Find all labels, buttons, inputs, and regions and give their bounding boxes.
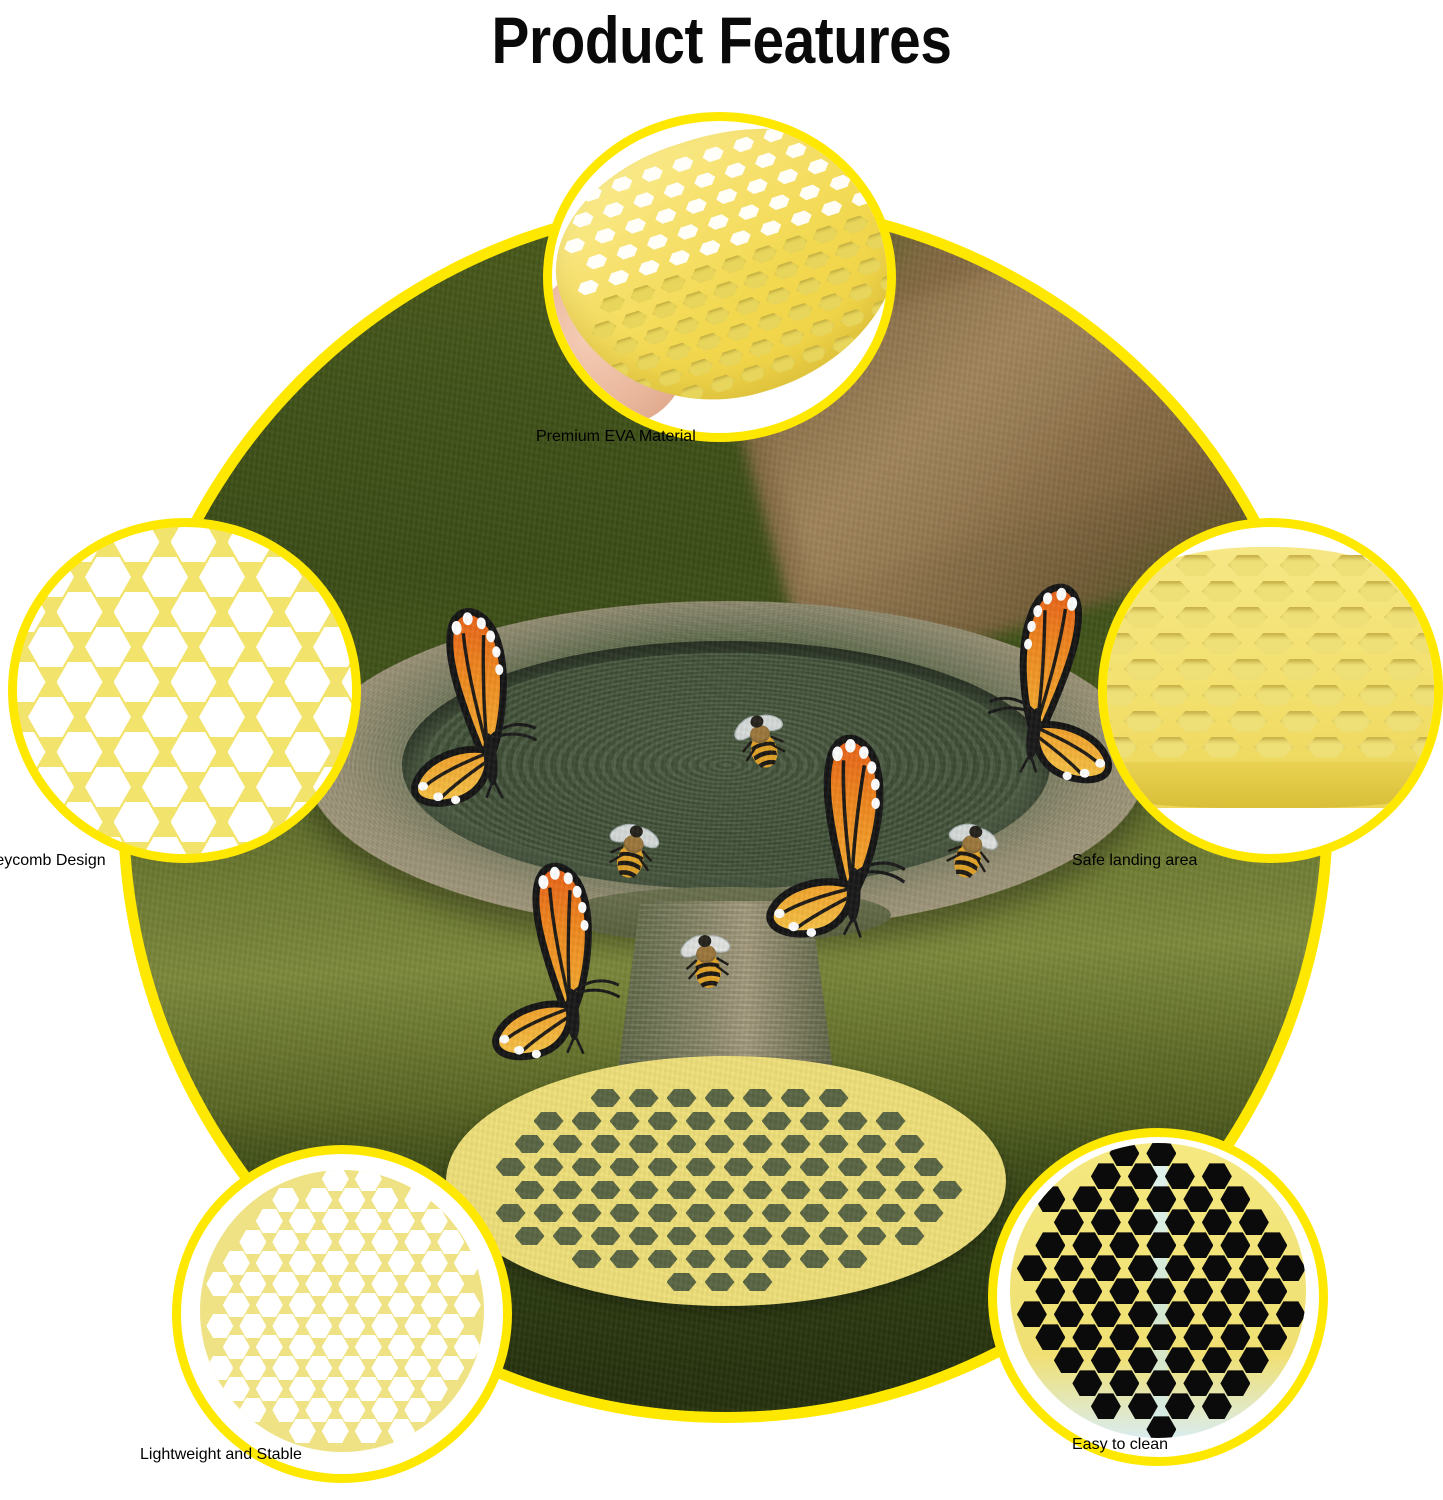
feature-label-premium-eva-material: Premium EVA Material	[536, 428, 696, 446]
page-title: Product Features	[101, 2, 1342, 78]
bird-bath-water	[424, 653, 1028, 877]
monarch-butterfly	[468, 853, 652, 1064]
callout-honeycomb-design	[8, 518, 361, 863]
honey-bee	[929, 811, 1011, 893]
callout-safe-landing-area	[1098, 518, 1443, 863]
honey-bee	[593, 813, 671, 891]
callout-image-safe-landing-area	[1098, 518, 1443, 863]
monarch-butterfly	[753, 728, 939, 944]
feature-label-safe-landing-area: Safe landing area	[1072, 852, 1197, 870]
callout-easy-to-clean	[988, 1128, 1328, 1466]
callout-image-premium-eva-material	[543, 112, 896, 442]
callout-image-easy-to-clean	[988, 1128, 1328, 1466]
feature-label-lightweight-and-stable: Lightweight and Stable	[140, 1446, 302, 1464]
callout-image-honeycomb-design	[8, 518, 361, 863]
bird-bath-pedestal	[601, 901, 851, 1201]
monarch-butterfly	[381, 596, 571, 813]
bird-bath	[306, 601, 1146, 1161]
mat-being-rinsed	[1010, 1143, 1306, 1437]
feature-label-easy-to-clean: Easy to clean	[1072, 1436, 1168, 1454]
honeycomb-holes	[446, 1056, 1006, 1306]
bird-bath-bowl	[306, 601, 1146, 931]
bird-bath-inner-rim	[402, 641, 1050, 889]
full-mat-top-view	[200, 1170, 483, 1452]
callout-premium-eva-material	[543, 112, 896, 442]
honeycomb-mesh	[17, 527, 352, 854]
honey-bee	[671, 926, 744, 999]
feature-label-honeycomb-design: Honeycomb Design	[0, 852, 106, 870]
bird-bath-neck	[561, 887, 891, 943]
foam-mat-edge	[1098, 762, 1443, 808]
honeycomb-mat-in-water	[446, 1056, 1006, 1306]
callout-image-lightweight-and-stable	[172, 1145, 512, 1483]
infographic-canvas: Product Features Pre	[0, 0, 1443, 1500]
honey-bee	[722, 702, 802, 782]
callout-lightweight-and-stable	[172, 1145, 512, 1483]
